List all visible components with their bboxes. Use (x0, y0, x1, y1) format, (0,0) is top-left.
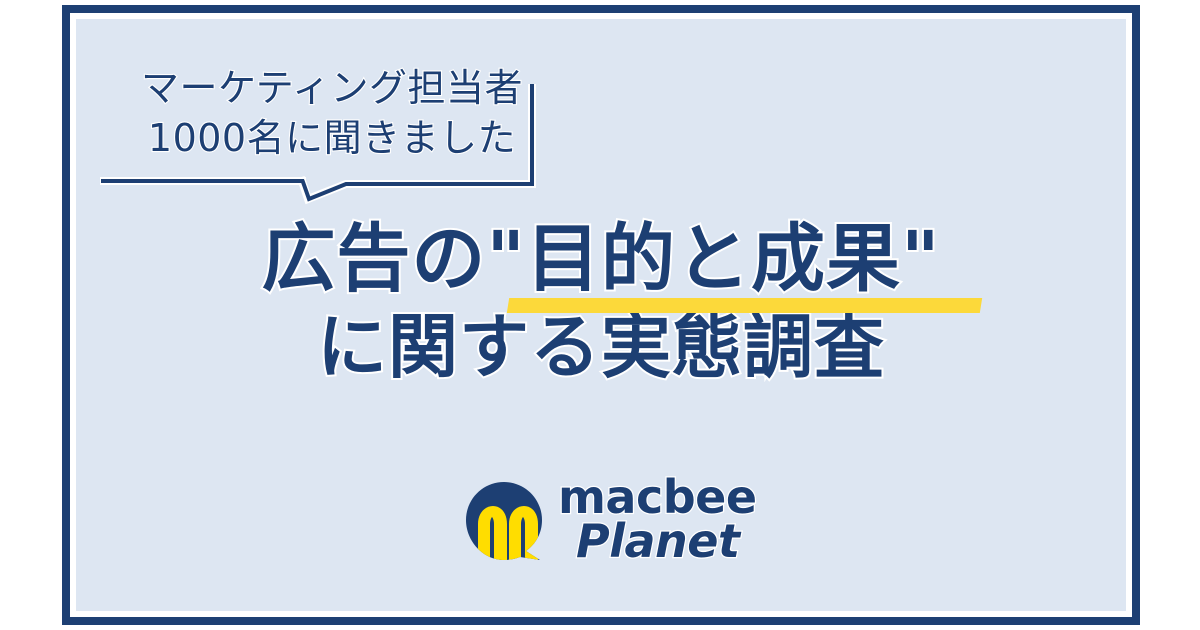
brand-logo: macbee Planet (462, 474, 762, 570)
bubble-bracket-stem (524, 82, 542, 182)
headline-line-1: 広告の"目的と成果" (76, 216, 1126, 302)
bubble-line-2: 1000名に聞きました (122, 112, 542, 164)
wordmark-planet: Planet (576, 516, 739, 566)
yellow-highlight-bar (507, 298, 982, 313)
poster-root: マーケティング担当者 1000名に聞きました (0, 0, 1200, 630)
brand-wordmark: macbee Planet (558, 474, 778, 570)
headline-line-2: に関する実態調査 (76, 306, 1126, 388)
macbee-planet-circle-mark-icon (462, 480, 546, 564)
speech-bubble: マーケティング担当者 1000名に聞きました (100, 62, 560, 207)
bubble-bracket (100, 173, 560, 207)
bubble-line-1: マーケティング担当者 (122, 62, 542, 114)
